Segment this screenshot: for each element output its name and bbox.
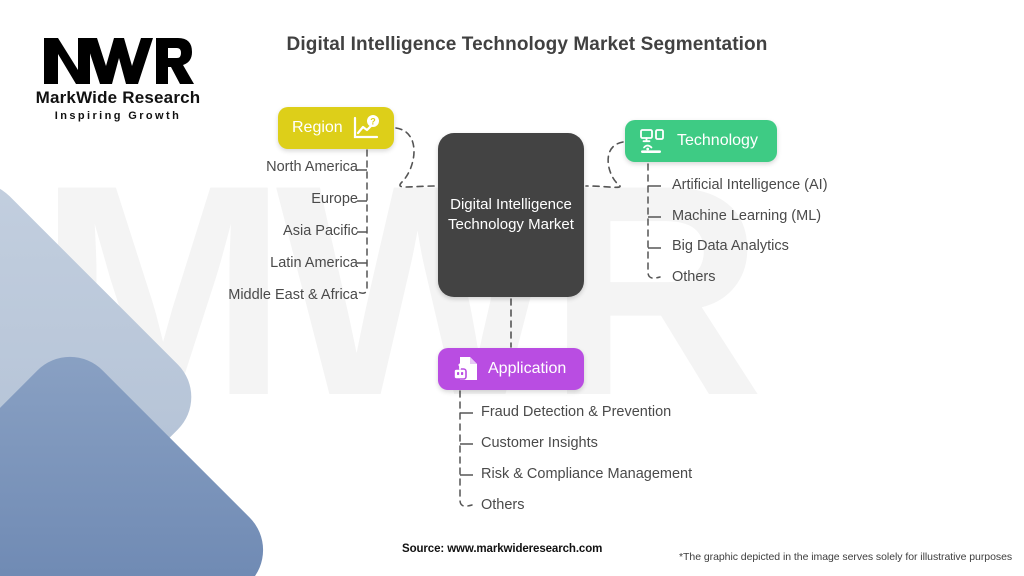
center-node-label: Digital Intelligence Technology Market xyxy=(438,195,584,235)
mwr-monogram-icon xyxy=(38,32,198,87)
page-title: Digital Intelligence Technology Market S… xyxy=(220,34,834,56)
leaf-item: Customer Insights xyxy=(481,436,692,451)
branch-label-application: Application xyxy=(488,360,566,378)
leaf-item: Big Data Analytics xyxy=(672,239,828,254)
leaf-item: Others xyxy=(481,498,692,513)
leaf-item: Artificial Intelligence (AI) xyxy=(672,178,828,193)
leaf-item: Asia Pacific xyxy=(150,224,358,239)
leaf-list-application: Fraud Detection & Prevention Customer In… xyxy=(481,405,692,529)
leaf-item: Risk & Compliance Management xyxy=(481,467,692,482)
leaf-item: Fraud Detection & Prevention xyxy=(481,405,692,420)
branch-badge-region[interactable]: Region ? xyxy=(278,107,394,149)
network-server-icon xyxy=(639,128,667,154)
leaf-item: North America xyxy=(150,160,358,175)
brand-logo: MarkWide Research Inspiring Growth xyxy=(28,32,208,122)
logo-company-name: MarkWide Research xyxy=(28,88,208,108)
branch-badge-technology[interactable]: Technology xyxy=(625,120,777,162)
leaf-item: Middle East & Africa xyxy=(150,288,358,303)
logo-tagline: Inspiring Growth xyxy=(28,110,208,122)
branch-badge-application[interactable]: Application xyxy=(438,348,584,390)
branch-label-technology: Technology xyxy=(677,132,758,150)
svg-text:?: ? xyxy=(370,116,376,126)
leaf-item: Others xyxy=(672,270,828,285)
leaf-item: Europe xyxy=(150,192,358,207)
disclaimer-text: *The graphic depicted in the image serve… xyxy=(679,551,1012,563)
leaf-list-technology: Artificial Intelligence (AI) Machine Lea… xyxy=(672,178,828,300)
leaf-list-region: North America Europe Asia Pacific Latin … xyxy=(150,160,358,320)
center-node: Digital Intelligence Technology Market xyxy=(438,133,584,297)
document-robot-icon xyxy=(452,355,480,383)
source-text: Source: www.markwideresearch.com xyxy=(402,543,602,555)
leaf-item: Latin America xyxy=(150,256,358,271)
infographic-canvas: MWR MarkWide Research Inspiring Growth D… xyxy=(0,0,1024,576)
chart-question-icon: ? xyxy=(352,115,380,141)
branch-label-region: Region xyxy=(292,119,343,137)
leaf-item: Machine Learning (ML) xyxy=(672,209,828,224)
